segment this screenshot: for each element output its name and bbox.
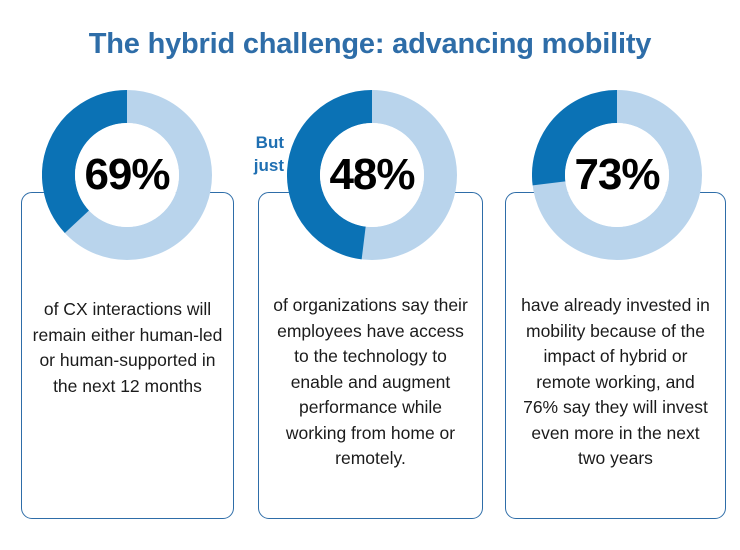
stat-card-3-body: have already invested in mobility becaus… bbox=[518, 293, 714, 472]
but-just-line-1: But bbox=[236, 131, 284, 154]
stat-card-1-body: of CX interactions will remain either hu… bbox=[33, 297, 223, 399]
donut-chart-1: 69% bbox=[42, 90, 212, 260]
but-just-line-2: just bbox=[236, 154, 284, 177]
page-title: The hybrid challenge: advancing mobility bbox=[0, 28, 740, 61]
donut-3-value: 73% bbox=[574, 153, 659, 197]
donut-2-value: 48% bbox=[329, 153, 414, 197]
donut-chart-2: 48% bbox=[287, 90, 457, 260]
donut-2-center: 48% bbox=[320, 123, 424, 227]
donut-chart-3: 73% bbox=[532, 90, 702, 260]
donut-1-value: 69% bbox=[84, 153, 169, 197]
stat-card-2-body: of organizations say their employees hav… bbox=[271, 293, 471, 472]
donut-1-center: 69% bbox=[75, 123, 179, 227]
but-just-label: But just bbox=[236, 131, 284, 177]
infographic-canvas: The hybrid challenge: advancing mobility… bbox=[0, 0, 740, 550]
donut-3-center: 73% bbox=[565, 123, 669, 227]
